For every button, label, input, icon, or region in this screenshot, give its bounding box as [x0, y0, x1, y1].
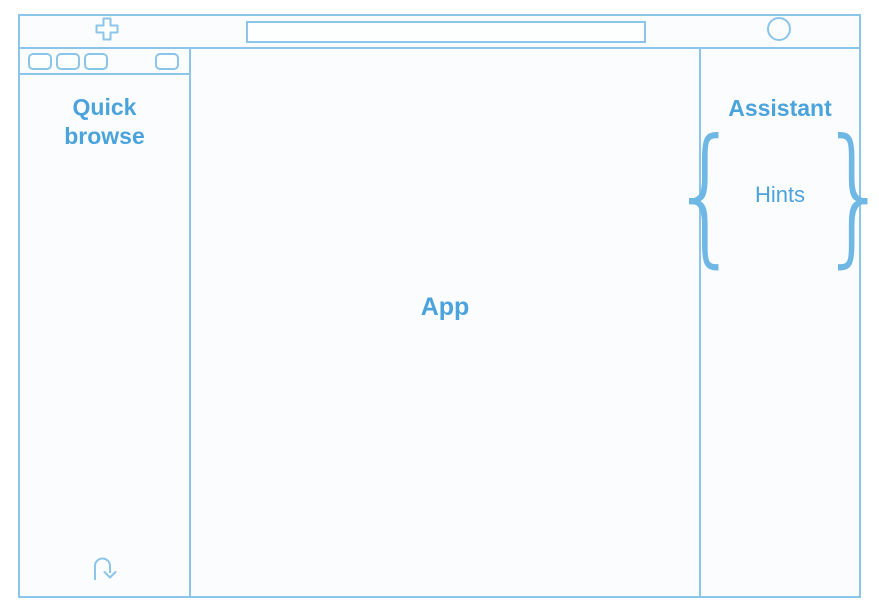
circle-avatar-icon	[766, 16, 792, 47]
search-bar-container	[193, 16, 699, 47]
new-tab-button[interactable]	[20, 16, 193, 47]
sidebar-chip-three[interactable]	[84, 53, 108, 70]
assistant-title: Assistant	[728, 95, 832, 122]
sidebar-footer	[20, 553, 189, 590]
sidebar-panel: Quick browse	[20, 49, 191, 598]
u-turn-arrow-icon[interactable]	[88, 553, 122, 590]
app-window: Quick browse App Assistant { Hints }	[18, 14, 861, 598]
assistant-panel: Assistant { Hints }	[701, 49, 859, 598]
plus-icon	[93, 15, 121, 48]
app-content-area: App	[191, 49, 701, 598]
top-bar	[20, 16, 859, 49]
account-button[interactable]	[699, 16, 859, 47]
sidebar-toolbar	[20, 49, 189, 75]
sidebar-chip-two[interactable]	[56, 53, 80, 70]
search-input[interactable]	[246, 21, 646, 43]
hints-block: { Hints }	[701, 182, 859, 208]
sidebar-chip-collapse[interactable]	[155, 53, 179, 70]
app-label: App	[421, 293, 470, 322]
sidebar-chip-one[interactable]	[28, 53, 52, 70]
window-body: Quick browse App Assistant { Hints }	[20, 49, 859, 598]
sidebar-title: Quick browse	[20, 93, 189, 151]
hints-label: Hints	[753, 182, 807, 208]
